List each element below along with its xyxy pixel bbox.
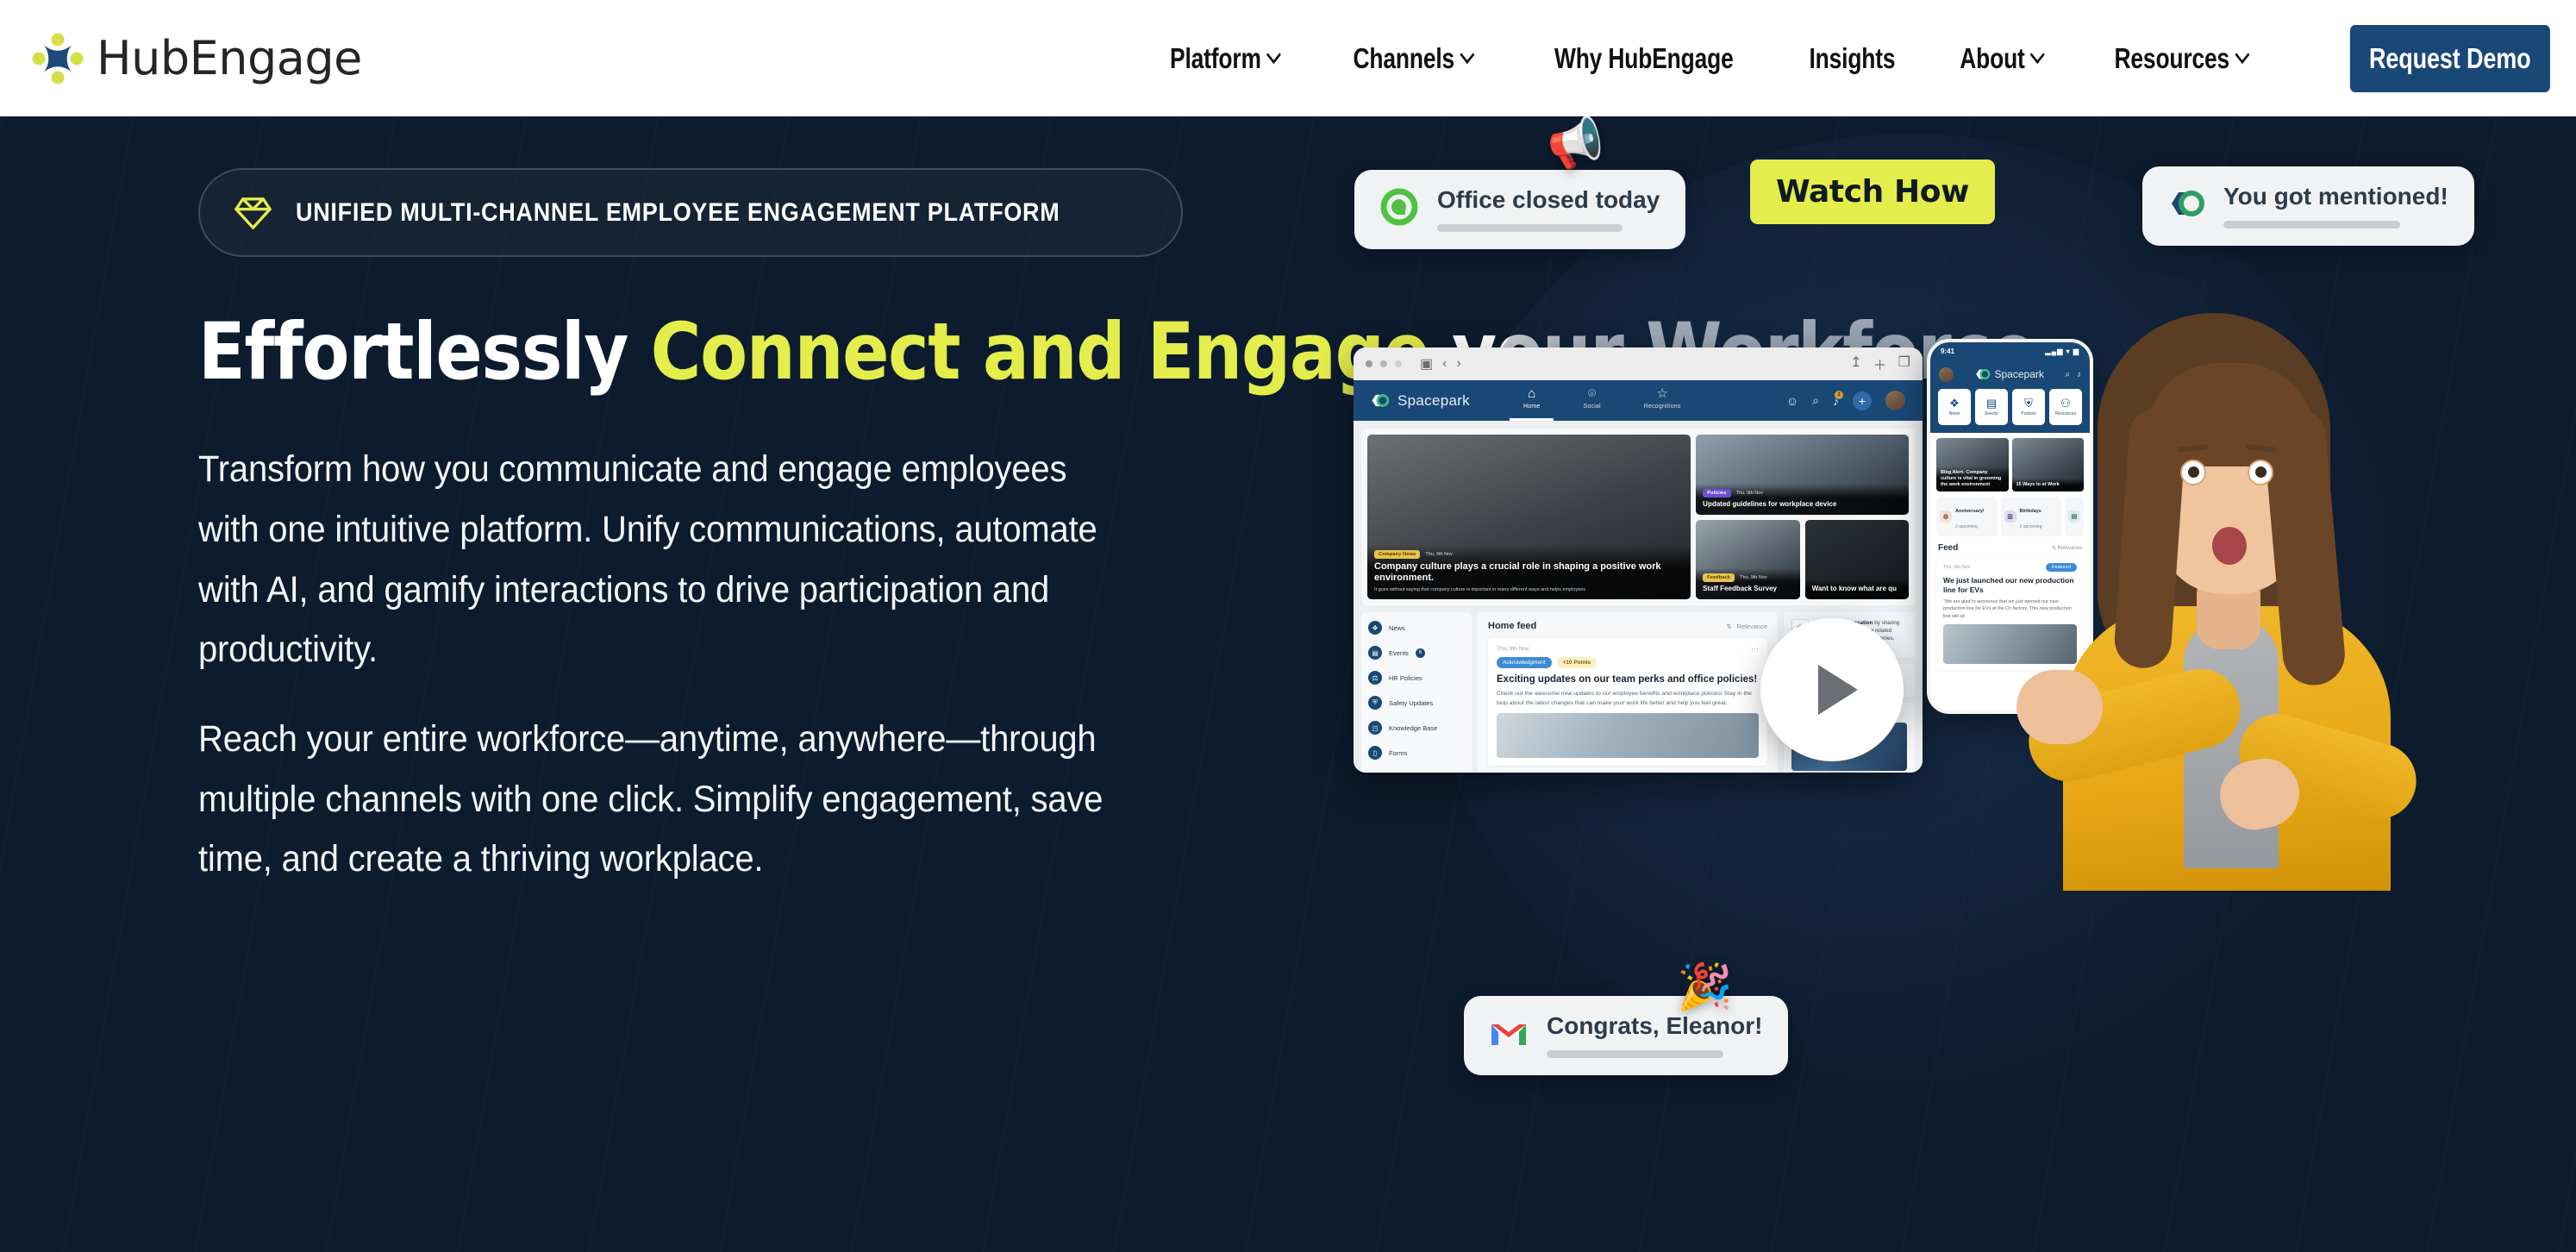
app-name: Spacepark	[1995, 368, 2044, 380]
megaphone-icon: ❖	[1949, 398, 1960, 409]
sidebar-item-knowledge-base[interactable]: ◳ Knowledge Base	[1368, 721, 1465, 735]
post-date: Thu, 9th Nov	[1943, 565, 1971, 570]
card-title: Staff Feedback Survey	[1703, 585, 1792, 593]
form-icon: ▯	[1368, 746, 1382, 760]
sidebar-item-news[interactable]: ❖ News	[1368, 621, 1465, 635]
app-tab-label: Home	[1523, 404, 1540, 410]
card-tag: Company News	[1374, 550, 1420, 559]
nav-item-label: Platform	[1170, 42, 1261, 75]
megaphone-icon: ❖	[1368, 621, 1382, 635]
feed-title: Home feed	[1488, 621, 1536, 631]
sidebar-item-label: Knowledge Base	[1389, 724, 1437, 732]
hero-text-column: UNIFIED MULTI-CHANNEL EMPLOYEE ENGAGEMEN…	[0, 116, 1319, 1252]
book-icon: ◳	[1368, 721, 1382, 735]
card-subtitle: It goes without saying that company cult…	[1374, 587, 1684, 593]
balloon-icon: ◍	[1940, 510, 1952, 523]
eyebrow-label: UNIFIED MULTI-CHANNEL EMPLOYEE ENGAGEMEN…	[296, 198, 1060, 228]
avatar[interactable]	[1885, 391, 1905, 410]
hero-section: UNIFIED MULTI-CHANNEL EMPLOYEE ENGAGEMEN…	[0, 116, 2576, 1252]
sidebar-item-label: HR Policies	[1389, 674, 1422, 682]
sidebar-item-hr-policies[interactable]: ⚖ HR Policies	[1368, 671, 1465, 685]
quick-action-policies[interactable]: ⛨ Policies	[2012, 389, 2045, 425]
app-tab-label: Recognitions	[1644, 404, 1681, 410]
page-title: Effortlessly Connect and Engage your Wor…	[198, 310, 1185, 395]
card-title: Updated guidelines for workplace device	[1703, 500, 1902, 509]
app-name: Spacepark	[1397, 392, 1470, 410]
quick-action-news[interactable]: ❖ News	[1938, 389, 1971, 425]
post-date: Thu, 9th Nov	[1497, 646, 1529, 652]
nav-item-why-hubengage[interactable]: Why HubEngage	[1537, 42, 1751, 75]
sidebar-toggle-icon[interactable]: ▣	[1420, 355, 1433, 372]
cake-icon: ▥	[2004, 510, 2016, 523]
post-points-badge: +10 Points	[1557, 657, 1597, 668]
chip-placeholder-bar	[2223, 221, 2400, 228]
party-popper-emoji-icon: 🎉	[1677, 965, 1733, 1010]
card-date: Thu, 9th Nov	[1736, 491, 1764, 496]
card-title: Company culture plays a crucial role in …	[1374, 561, 1684, 585]
sidebar-item-label: Safety Updates	[1389, 699, 1433, 707]
feed-sort-label: Relevance	[1737, 623, 1767, 630]
post-image	[1497, 713, 1759, 758]
card-title: Blog Alert- Company culture is vital in …	[1936, 466, 2009, 491]
chip-label: You got mentioned!	[2223, 184, 2448, 210]
chevron-down-icon	[1462, 48, 1474, 63]
forward-arrow-icon[interactable]: ›	[1456, 356, 1460, 372]
browser-chrome-bar: ▣ ‹ › ↥ ＋ ❐	[1354, 347, 1923, 380]
primary-nav-links: Platform Channels Why HubEngage Insights…	[1135, 25, 2550, 92]
nav-item-label: Why HubEngage	[1554, 42, 1734, 75]
nav-item-label: Resources	[2115, 42, 2230, 75]
chip-placeholder-bar	[1437, 224, 1623, 232]
featured-card-policies[interactable]: Policies Thu, 9th Nov Updated guidelines…	[1696, 435, 1909, 515]
home-feed: Home feed ⇅ Relevance Thu, 9th Nov ···	[1478, 612, 1778, 773]
hubengage-star-logo-icon	[31, 32, 84, 85]
tabs-overview-icon[interactable]: ❐	[1898, 354, 1910, 374]
top-navigation-bar: HubEngage Platform Channels Why HubEngag…	[0, 0, 2576, 116]
window-maximize-dot-icon	[1395, 360, 1402, 367]
calendar-icon: ▤	[1986, 398, 1997, 409]
hero-paragraph-1: Transform how you communicate and engage…	[198, 440, 1121, 680]
home-icon: ⌂	[1523, 387, 1540, 400]
card-tag: Feedback	[1703, 573, 1735, 582]
post-title: Exciting updates on our team perks and o…	[1497, 673, 1759, 685]
new-tab-icon[interactable]: ＋	[1873, 354, 1887, 374]
headline-accent: Connect and Engage	[651, 307, 1429, 398]
sidebar-item-safety-updates[interactable]: ⛨ Safety Updates	[1368, 696, 1465, 710]
diamond-gem-icon	[233, 192, 273, 233]
sidebar-item-count: 6	[1416, 648, 1425, 658]
nav-item-label: Insights	[1810, 42, 1896, 75]
sidebar-item-label: Events	[1389, 649, 1409, 657]
phone-card-blog-alert[interactable]: Blog Alert- Company culture is vital in …	[1936, 438, 2009, 491]
app-tab-home[interactable]: ⌂ Home	[1523, 387, 1540, 415]
nav-item-about[interactable]: About	[1942, 42, 2061, 75]
featured-card-questions[interactable]: Want to know what are qu	[1805, 520, 1909, 600]
hubengage-mark-icon	[2168, 189, 2204, 222]
app-logo[interactable]: Spacepark	[1975, 368, 2044, 380]
quick-action-label: Events	[1985, 411, 1998, 416]
policy-icon: ⚖	[1368, 671, 1382, 685]
phone-tile-birthdays[interactable]: ▥ Birthdays 2 upcoming	[2001, 497, 2062, 536]
quick-action-label: News	[1949, 411, 1960, 416]
shield-icon: ⛨	[2024, 398, 2033, 409]
watch-how-badge[interactable]: Watch How	[1750, 160, 1995, 224]
chat-icon[interactable]: ☺	[1786, 394, 1798, 408]
phone-tile-anniversary[interactable]: ◍ Anniversary! 2 upcoming	[1936, 497, 1998, 536]
search-icon[interactable]: ⌕	[1812, 393, 1819, 408]
app-side-nav: ❖ News ▤ Events 6 ⚖ HR Policies	[1361, 612, 1472, 773]
featured-card-main[interactable]: Company News Thu, 9th Nov Company cultur…	[1367, 435, 1691, 599]
chevron-down-icon	[2237, 48, 2249, 63]
sort-icon: ⇅	[1726, 623, 1731, 630]
app-logo[interactable]: Spacepark	[1371, 392, 1470, 410]
window-close-dot-icon	[1366, 360, 1372, 367]
notification-chip-office-closed[interactable]: Office closed today	[1354, 170, 1685, 249]
nav-item-channels[interactable]: Channels	[1335, 42, 1491, 75]
app-nav-actions: ☺ ⌕ ♪ 3 +	[1786, 391, 1905, 410]
post-body: Check out the awesome new updates to our…	[1497, 690, 1759, 707]
back-arrow-icon[interactable]: ‹	[1442, 356, 1447, 372]
card-tag: Policies	[1703, 489, 1730, 498]
app-top-nav: Spacepark ⌂ Home ⌾ Social ☆ R	[1354, 380, 1923, 421]
chip-label: Congrats, Eleanor!	[1547, 1013, 1762, 1040]
featured-card-feedback[interactable]: Feedback Thu, 9th Nov Staff Feedback Sur…	[1696, 520, 1799, 600]
play-triangle-icon	[1818, 665, 1858, 715]
social-icon: ⌾	[1583, 387, 1600, 400]
bell-icon[interactable]: ♪ 3	[1833, 394, 1839, 408]
sidebar-item-forms[interactable]: ▯ Forms	[1368, 746, 1465, 760]
chevron-down-icon	[1269, 48, 1281, 63]
window-minimize-dot-icon	[1380, 360, 1387, 367]
pupil-right	[2255, 466, 2267, 478]
nav-item-label: Channels	[1353, 42, 1454, 75]
app-tab-label: Social	[1583, 404, 1600, 410]
avatar[interactable]	[1939, 367, 1954, 382]
tile-title: Anniversary!	[1955, 509, 1985, 514]
green-chat-bubble-icon	[1380, 188, 1418, 230]
headline-part-1: Effortlessly	[198, 307, 651, 398]
nav-item-insights[interactable]: Insights	[1792, 42, 1913, 75]
shield-icon: ⛨	[1368, 696, 1382, 710]
brand-logo[interactable]: HubEngage	[31, 32, 362, 85]
hero-paragraph-2: Reach your entire workforce—anytime, any…	[198, 710, 1121, 890]
play-button[interactable]	[1760, 618, 1904, 761]
chip-placeholder-bar	[1547, 1050, 1723, 1058]
nav-item-platform[interactable]: Platform	[1153, 42, 1297, 75]
tile-subtitle: 2 upcoming	[1955, 524, 1978, 529]
brand-name: HubEngage	[97, 35, 362, 82]
request-demo-button[interactable]: Request Demo	[2350, 25, 2550, 92]
notification-chip-congrats[interactable]: Congrats, Eleanor!	[1464, 996, 1788, 1075]
app-tab-social[interactable]: ⌾ Social	[1583, 387, 1600, 415]
megaphone-emoji-icon: 📢	[1543, 116, 1607, 172]
card-date: Thu, 9th Nov	[1740, 575, 1767, 580]
status-time: 9:41	[1941, 347, 1954, 355]
chevron-down-icon	[2033, 48, 2045, 63]
quick-action-events[interactable]: ▤ Events	[1975, 389, 2008, 425]
app-tab-recognitions[interactable]: ☆ Recognitions	[1644, 387, 1681, 415]
presenter-photo	[2056, 280, 2418, 884]
mouth	[2212, 527, 2247, 565]
eyebrow-badge: UNIFIED MULTI-CHANNEL EMPLOYEE ENGAGEMEN…	[198, 168, 1183, 257]
share-icon[interactable]: ↥	[1850, 354, 1861, 374]
post-tag: Acknowledgment	[1497, 657, 1552, 668]
feed-post[interactable]: Thu, 9th Nov ··· Acknowledgment +10 Poin…	[1488, 638, 1767, 766]
nav-item-resources[interactable]: Resources	[2098, 42, 2267, 75]
app-tabs: ⌂ Home ⌾ Social ☆ Recognitions	[1523, 387, 1681, 415]
card-date: Thu, 9th Nov	[1425, 552, 1453, 557]
notification-count-badge: 3	[1835, 391, 1843, 399]
plus-icon[interactable]: +	[1853, 391, 1872, 410]
nav-item-label: About	[1960, 42, 2024, 75]
sidebar-item-label: News	[1389, 624, 1405, 632]
tile-subtitle: 2 upcoming	[2020, 524, 2042, 529]
sidebar-item-label: Forms	[1389, 749, 1407, 757]
quick-action-label: Policies	[2021, 411, 2035, 416]
notification-chip-you-got-mentioned[interactable]: You got mentioned!	[2142, 166, 2474, 246]
gmail-icon	[1490, 1018, 1528, 1052]
hero-visual-column: Office closed today 📢 You got mentioned!	[1319, 116, 2576, 1252]
calendar-icon: ▤	[1368, 646, 1382, 660]
featured-cards-row: Company News Thu, 9th Nov Company cultur…	[1361, 429, 1915, 605]
chip-label: Office closed today	[1437, 187, 1660, 214]
pupil-left	[2188, 466, 2199, 478]
tile-title: Birthdays	[2020, 509, 2041, 514]
sidebar-item-events[interactable]: ▤ Events 6	[1368, 646, 1465, 660]
feed-sort-control[interactable]: ⇅ Relevance	[1726, 623, 1767, 630]
feed-title: Feed	[1938, 543, 1958, 553]
card-title: Want to know what are qu	[1812, 585, 1902, 593]
post-more-options-icon[interactable]: ···	[1751, 647, 1759, 651]
star-icon: ☆	[1644, 387, 1681, 400]
hand-left-pointing	[2016, 670, 2103, 744]
